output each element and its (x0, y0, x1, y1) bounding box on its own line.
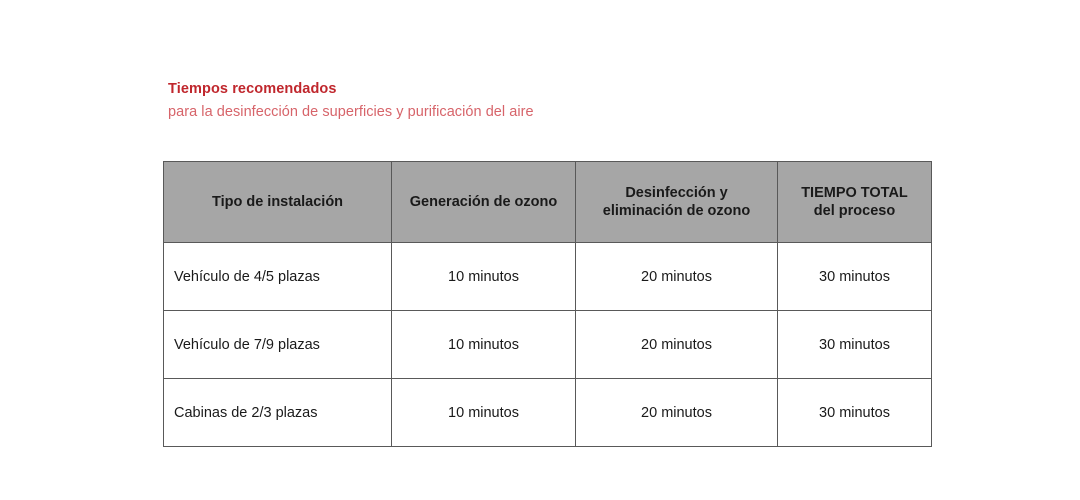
column-header-ozone-generation: Generación de ozono (392, 162, 576, 243)
cell-ozone-generation: 10 minutos (392, 311, 576, 379)
column-header-disinfection-elimination: Desinfección y eliminación de ozono (576, 162, 778, 243)
heading-block: Tiempos recomendados para la desinfecció… (168, 80, 868, 123)
column-header-installation-type: Tipo de instalación (164, 162, 392, 243)
table-row: Vehículo de 4/5 plazas 10 minutos 20 min… (164, 243, 932, 311)
column-header-installation-type-line-1: Tipo de instalación (172, 193, 383, 211)
table-body: Vehículo de 4/5 plazas 10 minutos 20 min… (164, 243, 932, 447)
cell-disinfection-elimination: 20 minutos (576, 379, 778, 447)
cell-total-time: 30 minutos (778, 311, 932, 379)
cell-ozone-generation: 10 minutos (392, 243, 576, 311)
column-header-disinfection-elimination-line-2: eliminación de ozono (584, 202, 769, 220)
column-header-disinfection-elimination-line-1: Desinfección y (584, 184, 769, 202)
column-header-total-time: TIEMPO TOTAL del proceso (778, 162, 932, 243)
cell-total-time: 30 minutos (778, 379, 932, 447)
table-row: Cabinas de 2/3 plazas 10 minutos 20 minu… (164, 379, 932, 447)
page-title: Tiempos recomendados (168, 80, 868, 99)
cell-disinfection-elimination: 20 minutos (576, 243, 778, 311)
recommended-times-table: Tipo de instalación Generación de ozono … (163, 161, 932, 447)
cell-ozone-generation: 10 minutos (392, 379, 576, 447)
cell-installation-type: Vehículo de 7/9 plazas (164, 311, 392, 379)
table-row: Vehículo de 7/9 plazas 10 minutos 20 min… (164, 311, 932, 379)
page-subtitle: para la desinfección de superficies y pu… (168, 102, 868, 123)
table-header: Tipo de instalación Generación de ozono … (164, 162, 932, 243)
cell-total-time: 30 minutos (778, 243, 932, 311)
table-header-row: Tipo de instalación Generación de ozono … (164, 162, 932, 243)
column-header-ozone-generation-line-1: Generación de ozono (400, 193, 567, 211)
cell-installation-type: Vehículo de 4/5 plazas (164, 243, 392, 311)
column-header-total-time-line-2: del proceso (786, 202, 923, 220)
cell-installation-type: Cabinas de 2/3 plazas (164, 379, 392, 447)
cell-disinfection-elimination: 20 minutos (576, 311, 778, 379)
column-header-total-time-line-1: TIEMPO TOTAL (786, 184, 923, 202)
